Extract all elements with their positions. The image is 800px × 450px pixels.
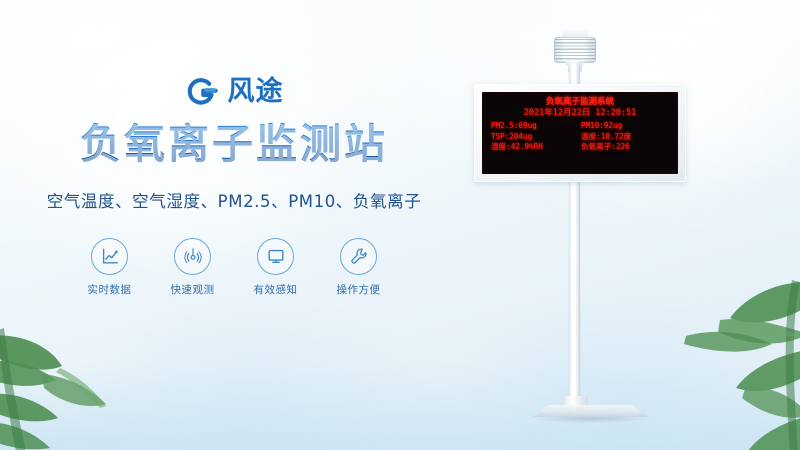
sensor-louvers xyxy=(554,37,596,63)
led-reading-row: 湿度:42.9%RH 负氧离子:226 xyxy=(491,142,669,152)
led-datetime: 2021年12月22日 12:20:51 xyxy=(491,108,669,119)
led-reading-negative-ions: 负氧离子:226 xyxy=(579,142,669,152)
led-screen: 负氧离子监测系统 2021年12月22日 12:20:51 PM2.5:69ug… xyxy=(482,92,678,174)
led-reading-pm25: PM2.5:69ug xyxy=(491,121,579,131)
led-reading-row: PM2.5:69ug PM10:92ug xyxy=(491,121,669,131)
led-readings: PM2.5:69ug PM10:92ug TSP:204ug 温度:10.72度… xyxy=(491,121,669,152)
promo-banner: 风途 负氧离子监测站 空气温度、空气湿度、PM2.5、PM10、负氧离子 实时数… xyxy=(0,0,800,450)
monitoring-station-device: 负氧离子监测系统 2021年12月22日 12:20:51 PM2.5:69ug… xyxy=(0,0,800,450)
base-flange-icon xyxy=(533,405,649,417)
led-reading-temperature: 温度:10.72度 xyxy=(579,132,669,142)
led-reading-row: TSP:204ug 温度:10.72度 xyxy=(491,132,669,142)
led-reading-tsp: TSP:204ug xyxy=(491,132,579,142)
led-reading-humidity: 湿度:42.9%RH xyxy=(491,142,579,152)
led-display-panel[interactable]: 负氧离子监测系统 2021年12月22日 12:20:51 PM2.5:69ug… xyxy=(474,84,686,182)
led-reading-pm10: PM10:92ug xyxy=(579,121,669,131)
led-title: 负氧离子监测系统 xyxy=(491,97,669,107)
